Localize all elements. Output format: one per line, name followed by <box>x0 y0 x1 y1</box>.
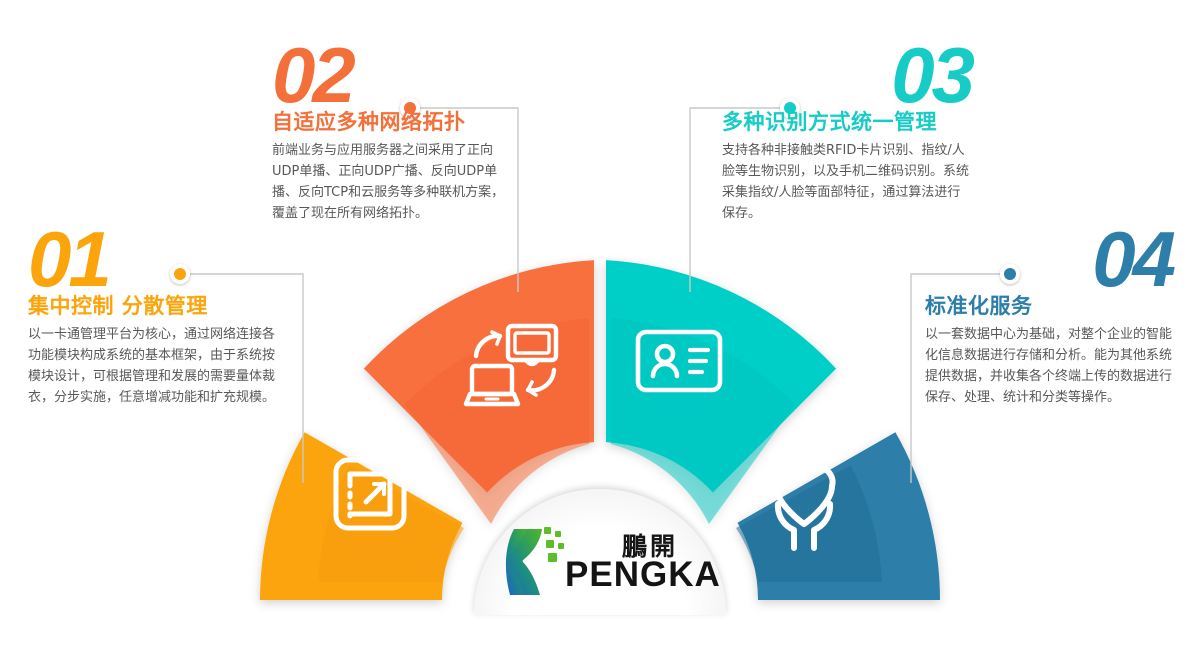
infographic-canvas: 鵬開 PENGKAI 01 集中控制 分散管理 以一卡通管理平台为核心，通过网络… <box>0 0 1200 663</box>
section-body-01: 以一卡通管理平台为核心，通过网络连接各功能模块构成系统的基本框架，由于系统按模块… <box>28 324 278 408</box>
section-number-03: 03 <box>722 44 972 108</box>
section-block-03: 03 多种识别方式统一管理 支持各种非接触类RFID卡片识别、指纹/人脸等生物识… <box>722 44 972 224</box>
section-number-02: 02 <box>272 44 510 108</box>
center-logo-hub: 鵬開 PENGKAI <box>474 489 726 615</box>
pengkai-k-mark <box>500 521 574 599</box>
section-block-04: 04 标准化服务 以一套数据中心为基础，对整个企业的智能化信息数据进行存储和分析… <box>925 228 1173 408</box>
section-body-02: 前端业务与应用服务器之间采用了正向UDP单播、正向UDP广播、反向UDP单播、反… <box>272 140 510 224</box>
section-number-04: 04 <box>925 228 1173 292</box>
section-number-01: 01 <box>28 228 278 292</box>
teal-segment[interactable] <box>606 260 836 524</box>
section-body-03: 支持各种非接触类RFID卡片识别、指纹/人脸等生物识别，以及手机二维码识别。系统… <box>722 140 972 224</box>
section-block-02: 02 自适应多种网络拓扑 前端业务与应用服务器之间采用了正向UDP单播、正向UD… <box>272 44 510 224</box>
section-body-04: 以一套数据中心为基础，对整个企业的智能化信息数据进行存储和分析。能为其他系统提供… <box>925 324 1173 408</box>
section-heading-03: 多种识别方式统一管理 <box>722 110 972 134</box>
section-block-01: 01 集中控制 分散管理 以一卡通管理平台为核心，通过网络连接各功能模块构成系统… <box>28 228 278 408</box>
section-heading-02: 自适应多种网络拓扑 <box>272 110 510 134</box>
logo-english-name: PENGKAI <box>565 555 726 595</box>
section-heading-01: 集中控制 分散管理 <box>28 294 278 318</box>
